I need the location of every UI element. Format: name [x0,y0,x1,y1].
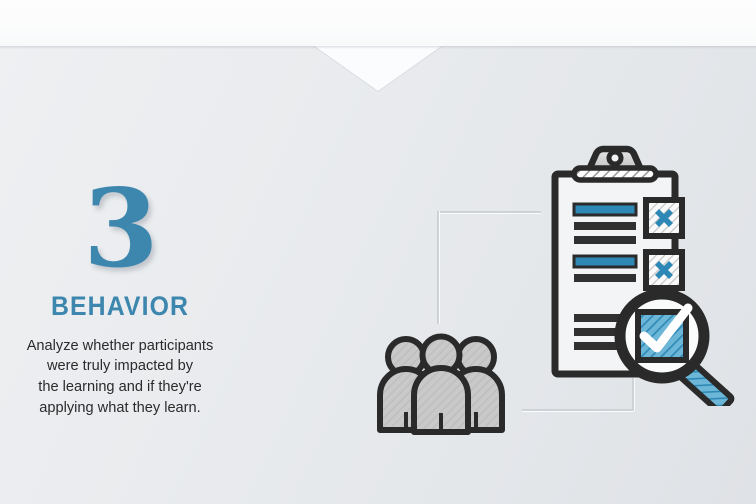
body-line-2: were truly impacted by [0,356,240,377]
text-column: 3 BEHAVIOR Analyze whether participants … [0,178,240,418]
connector-top-vertical [437,211,439,324]
clipboard-clip [574,149,656,180]
body-copy: Analyze whether participants were truly … [0,336,240,419]
person-center [414,337,468,433]
body-line-1: Analyze whether participants [0,336,240,357]
row-1-blue-bar [574,204,636,215]
top-white-band [0,0,756,46]
row-1-line-1 [574,222,636,230]
body-line-3: the learning and if they're [0,377,240,398]
band-drop-shadow [0,46,756,49]
top-chevron-notch-icon [313,45,443,91]
step-number: 3 [0,178,240,281]
row-2-blue-bar [574,256,636,267]
body-line-4: applying what they learn. [0,398,240,419]
checked-checkbox [638,308,688,360]
slide-canvas: 3 BEHAVIOR Analyze whether participants … [0,0,756,504]
row-1-line-2 [574,236,636,244]
magnifying-glass-icon [612,286,747,411]
connector-top-horizontal [437,211,541,213]
people-group-icon [366,333,516,443]
row-2-line-1 [574,274,636,282]
page-title: BEHAVIOR [10,291,231,322]
clipboard-row-1 [574,200,682,244]
